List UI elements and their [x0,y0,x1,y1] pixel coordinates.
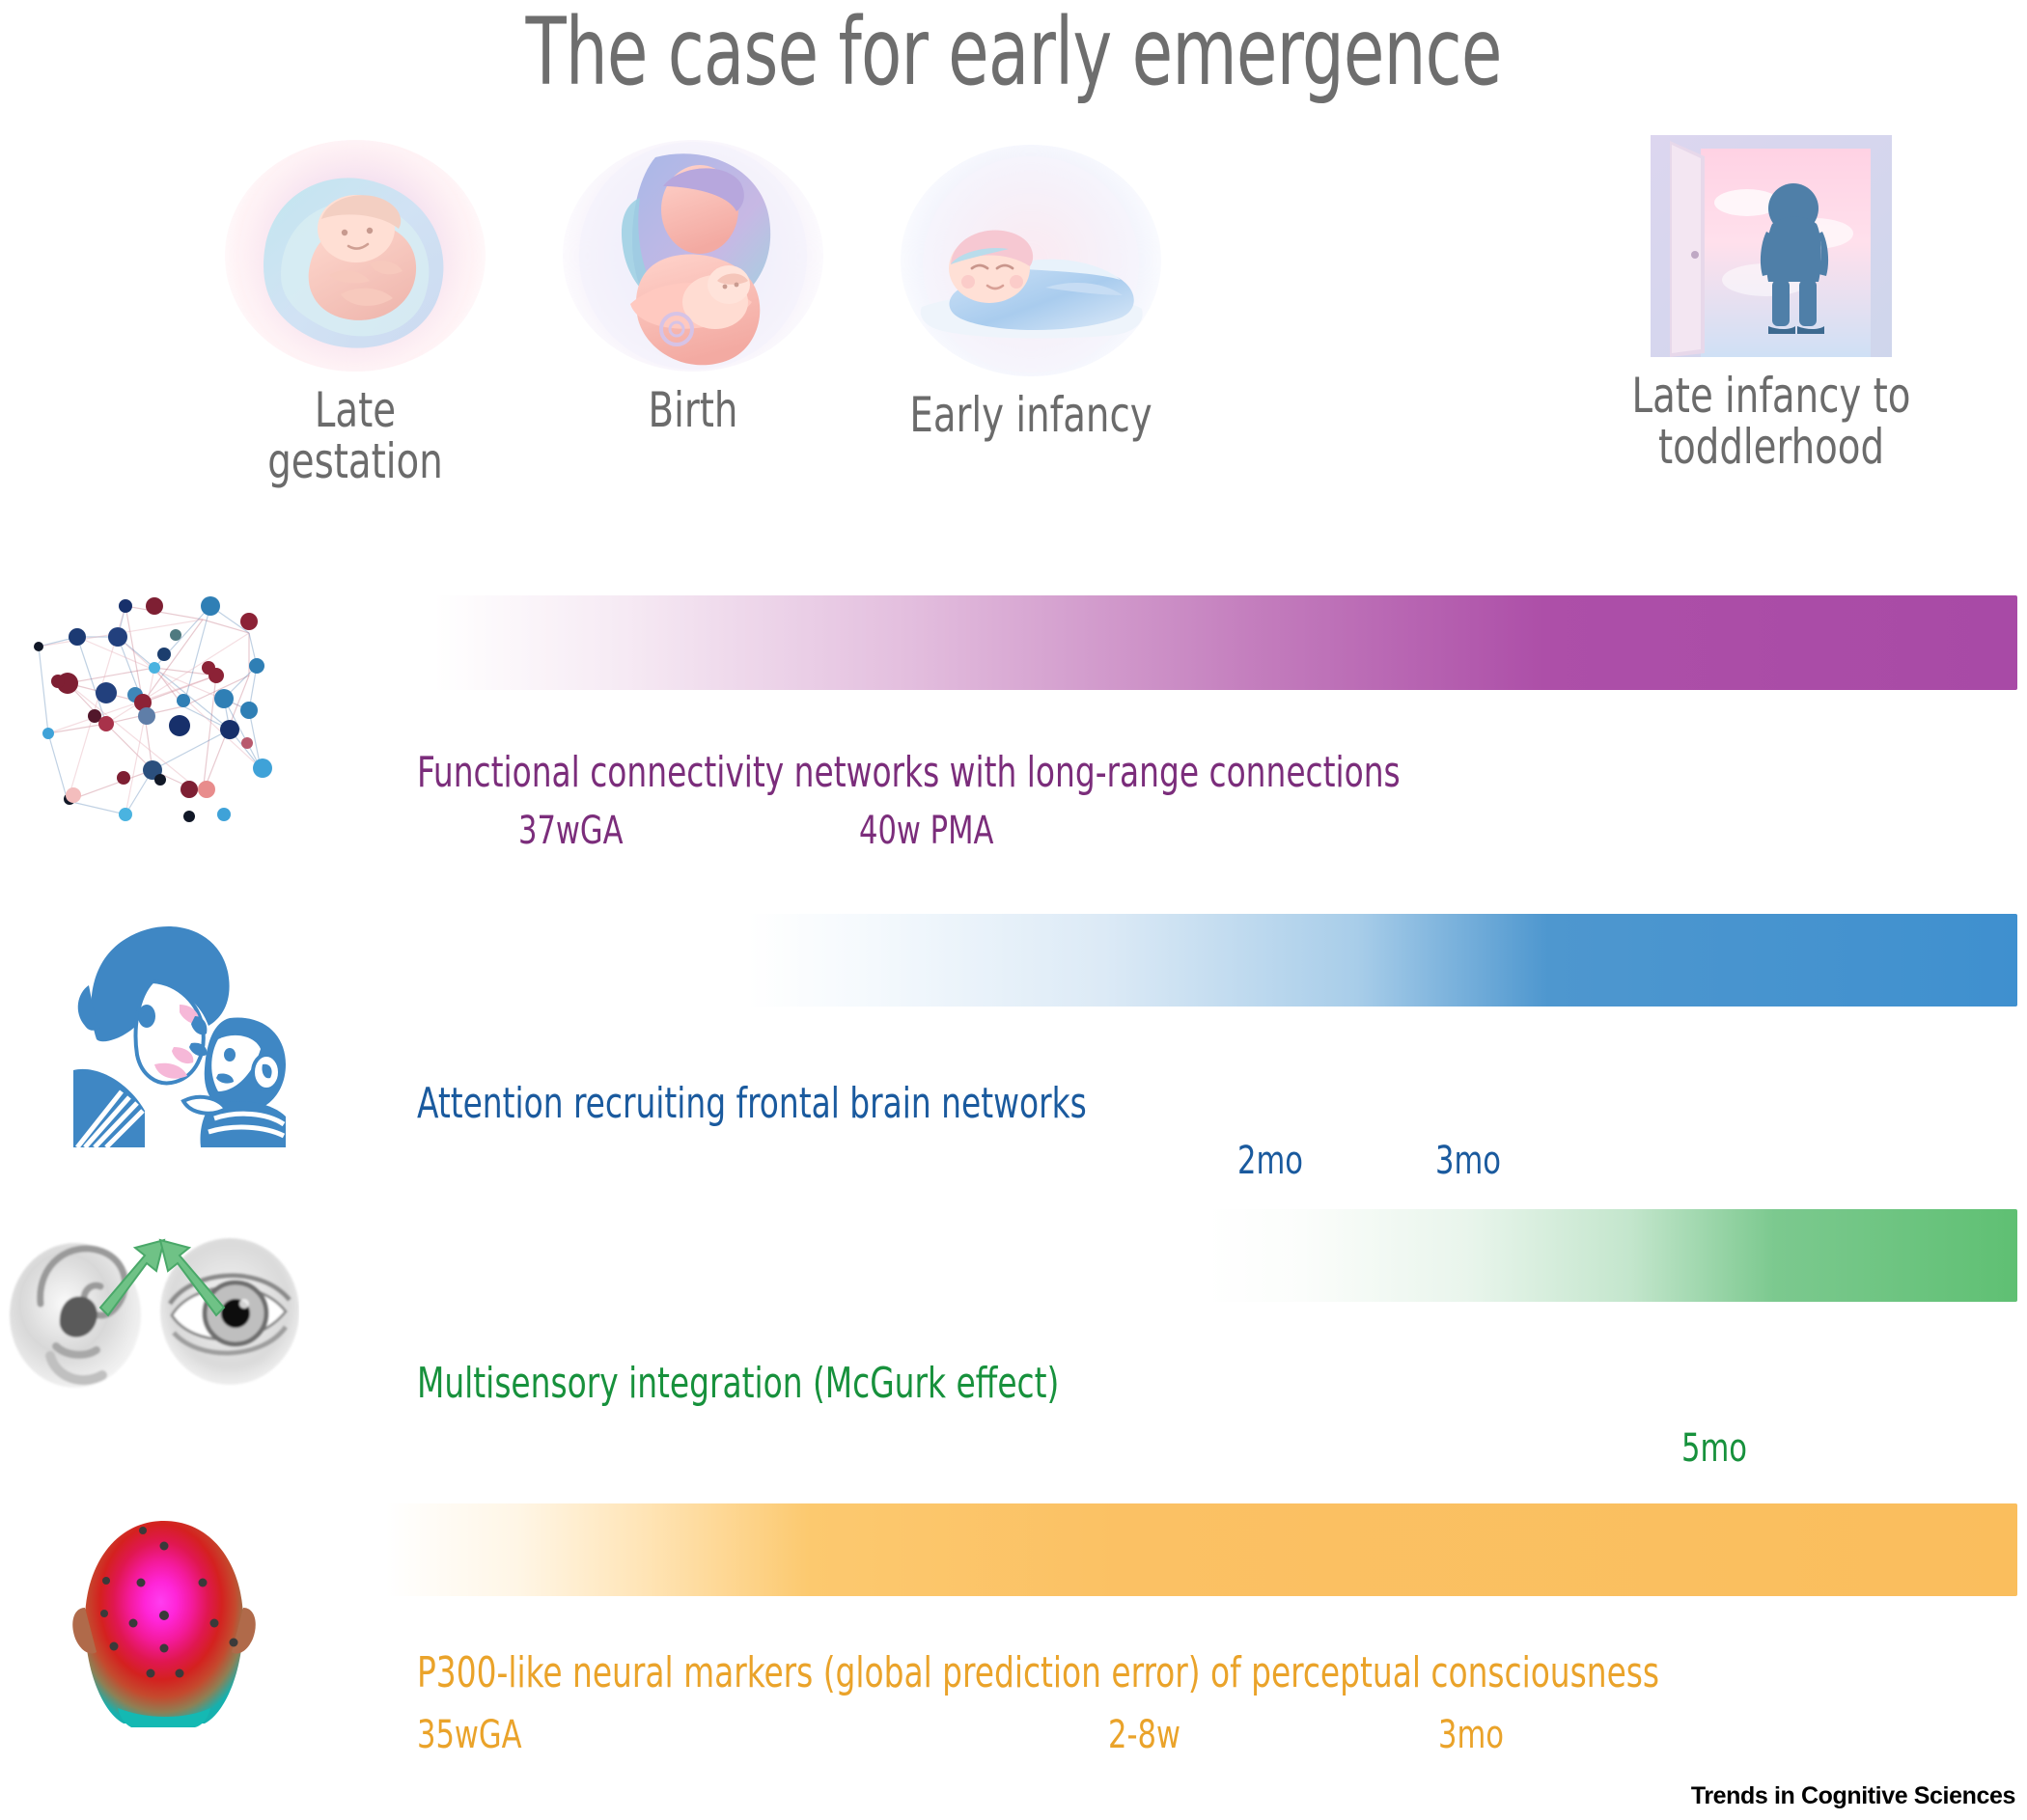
stage-birth: Birth [539,140,847,436]
tick-2-8w: 2-8w [1108,1713,1180,1757]
timeline-bar-multisensory-integration [1207,1209,2017,1302]
stage-late-infancy-toddlerhood: Late infancy to toddlerhood [1569,135,1974,473]
tick-2mo: 2mo [1237,1139,1303,1183]
row-caption-multisensory-integration: Multisensory integration (McGurk effect) [417,1359,1059,1408]
timeline-bar-attention-frontal-networks [748,914,2017,1007]
tick-3mo-blue: 3mo [1435,1139,1501,1183]
stage-early-infancy: Early infancy [876,145,1185,441]
tick-5mo: 5mo [1681,1426,1747,1471]
stage-label: Late gestation [222,385,487,487]
tick-3mo-orange: 3mo [1438,1713,1504,1757]
tick-37wga: 37wGA [518,809,624,853]
row-caption-p300-neural-markers: P300-like neural markers (global predict… [417,1648,1659,1697]
tick-40w-pma: 40w PMA [859,809,993,853]
eeg-topographic-head-map-icon [58,1515,270,1732]
page-title: The case for early emergence [203,4,1824,101]
stage-label-line1: Late infancy to [1597,371,1945,422]
stage-late-gestation: Late gestation [201,140,510,487]
swaddled-sleeping-baby-illustration [901,145,1161,376]
timeline-bar-p300-neural-markers [386,1503,2017,1596]
ear-and-eye-arrows-icon [0,1211,299,1399]
fetus-in-womb-illustration [225,140,486,372]
tick-35wga: 35wGA [417,1713,522,1757]
stage-label: Birth [560,385,825,436]
row-caption-attention-frontal-networks: Attention recruiting frontal brain netwo… [417,1079,1087,1128]
mother-holding-newborn-illustration [563,140,823,372]
stage-label: Late infancy to toddlerhood [1597,371,1945,473]
mother-and-baby-face-to-face-icon [29,912,299,1148]
journal-footer: Trends in Cognitive Sciences [1691,1782,2015,1810]
row-caption-functional-connectivity: Functional connectivity networks with lo… [417,748,1401,797]
brain-network-graph-icon [10,579,299,825]
toddler-at-doorway-illustration [1651,135,1892,357]
stage-label-line2: toddlerhood [1597,422,1945,473]
stage-label: Early infancy [898,390,1163,441]
figure-canvas: The case for early emergence [0,0,2027,1820]
timeline-bar-functional-connectivity [434,595,2017,690]
